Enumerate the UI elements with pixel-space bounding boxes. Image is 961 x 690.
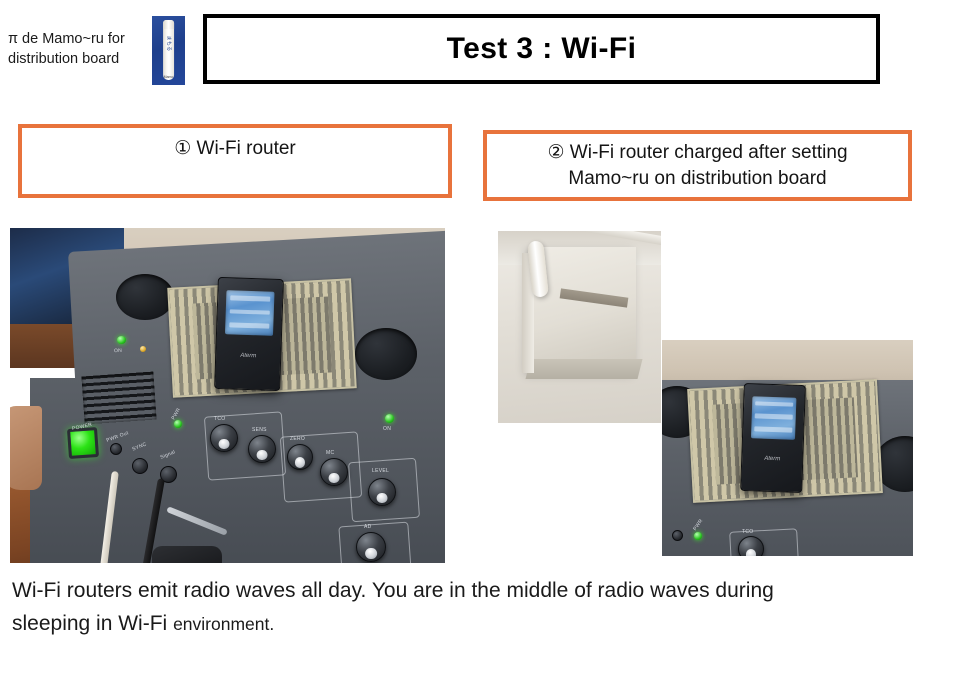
brand-logo-caption-line2: distribution board <box>8 50 148 70</box>
photo1-router-screen-line <box>229 322 269 328</box>
photo2-board-bottom <box>526 359 643 379</box>
caption-box-1: ① Wi-Fi router <box>18 124 452 198</box>
photo1-aperture-right <box>355 328 417 380</box>
photo3-wifi-router-device: Aterm <box>740 383 806 493</box>
photo1-router-screen-line <box>230 309 270 315</box>
photo1-led-on <box>117 336 126 344</box>
photo2-board-label <box>568 253 590 261</box>
photo3-router-screen-line <box>755 414 792 420</box>
photo3-router-brand: Aterm <box>764 456 780 463</box>
photo3-router-screen-line <box>755 427 792 433</box>
brand-logo-caption-line1: π de Mamo~ru for <box>8 30 148 50</box>
photo3-led-pwr <box>694 532 702 540</box>
photo1-router-screen-line <box>230 296 270 302</box>
photo-distribution-board <box>498 231 661 423</box>
photo1-jack-pwr-out <box>110 443 122 455</box>
photo1-wifi-router-device: Aterm <box>214 277 284 391</box>
photo1-router-screen <box>225 290 274 336</box>
photo1-knob-tco[interactable] <box>210 424 238 452</box>
photo3-jack <box>672 530 683 541</box>
photo1-label-sens: SENS <box>252 427 267 433</box>
brand-logo-block: π de Mamo~ru for distribution board まもる … <box>8 14 198 86</box>
photo1-knob-ad[interactable] <box>356 532 386 562</box>
caption-label-1: ① Wi-Fi router <box>174 128 296 162</box>
caption-label-2: ② Wi-Fi router charged after setting Mam… <box>541 140 853 191</box>
photo3-label-tco: TCO <box>742 529 753 535</box>
photo1-label-level: LEVEL <box>372 468 389 474</box>
brand-logo-caption: π de Mamo~ru for distribution board <box>8 30 148 69</box>
photo1-hand <box>10 406 42 490</box>
photo1-aperture-left <box>116 274 174 320</box>
photo1-knob-sens[interactable] <box>248 435 276 463</box>
caption-box-2: ② Wi-Fi router charged after setting Mam… <box>483 130 912 201</box>
mamoru-stick-foot: Mamo <box>164 75 173 79</box>
photo1-label-mc: MC <box>326 450 334 456</box>
bottom-paragraph: Wi-Fi routers emit radio waves all day. … <box>12 575 942 640</box>
photo1-knob-zero[interactable] <box>287 444 313 470</box>
photo1-led-status <box>140 346 146 352</box>
photo1-label-zero: ZERO <box>290 436 305 442</box>
photo1-label-tco: TCO <box>214 416 225 422</box>
page-title: Test 3 : Wi-Fi <box>447 32 637 66</box>
mamoru-stick-mark: まもる <box>165 36 172 52</box>
photo1-knob-mc[interactable] <box>320 458 348 486</box>
photo3-router-screen-line <box>755 401 792 407</box>
photo1-led-right <box>385 414 394 423</box>
slide-title-box: Test 3 : Wi-Fi <box>203 14 880 84</box>
photo-wifi-router-on-panel: Aterm ON ON PWR POWER PWR Out SYNC Signa… <box>10 228 445 563</box>
bottom-paragraph-line1: Wi-Fi routers emit radio waves all day. … <box>12 575 942 608</box>
photo-panel-after-mamoru: Aterm PWR TCO <box>662 340 913 556</box>
photo1-power-button[interactable] <box>67 427 99 459</box>
mamoru-device-photo: まもる Mamo <box>152 16 185 85</box>
bottom-paragraph-line2-main: sleeping in Wi-Fi <box>12 612 173 635</box>
photo1-label-ad: AD <box>364 524 372 530</box>
bottom-paragraph-line2-small: environment. <box>173 614 274 634</box>
photo1-router-brand: Aterm <box>240 352 256 359</box>
photo1-label-on-right: ON <box>383 426 391 432</box>
photo1-vent-grille <box>81 372 156 425</box>
photo3-knob-tco[interactable] <box>738 536 764 556</box>
caption-label-2-line1: ② Wi-Fi router charged after setting <box>547 140 847 166</box>
photo3-router-screen <box>751 396 797 440</box>
mamoru-stick-cap <box>163 20 175 30</box>
photo1-label-on: ON <box>114 348 123 355</box>
photo1-jack-sync <box>132 458 148 474</box>
photo1-black-object <box>152 546 222 563</box>
photo1-knob-level[interactable] <box>368 478 396 506</box>
bottom-paragraph-line2: sleeping in Wi-Fi environment. <box>12 608 942 641</box>
caption-label-2-line2: Mamo~ru on distribution board <box>547 166 847 192</box>
